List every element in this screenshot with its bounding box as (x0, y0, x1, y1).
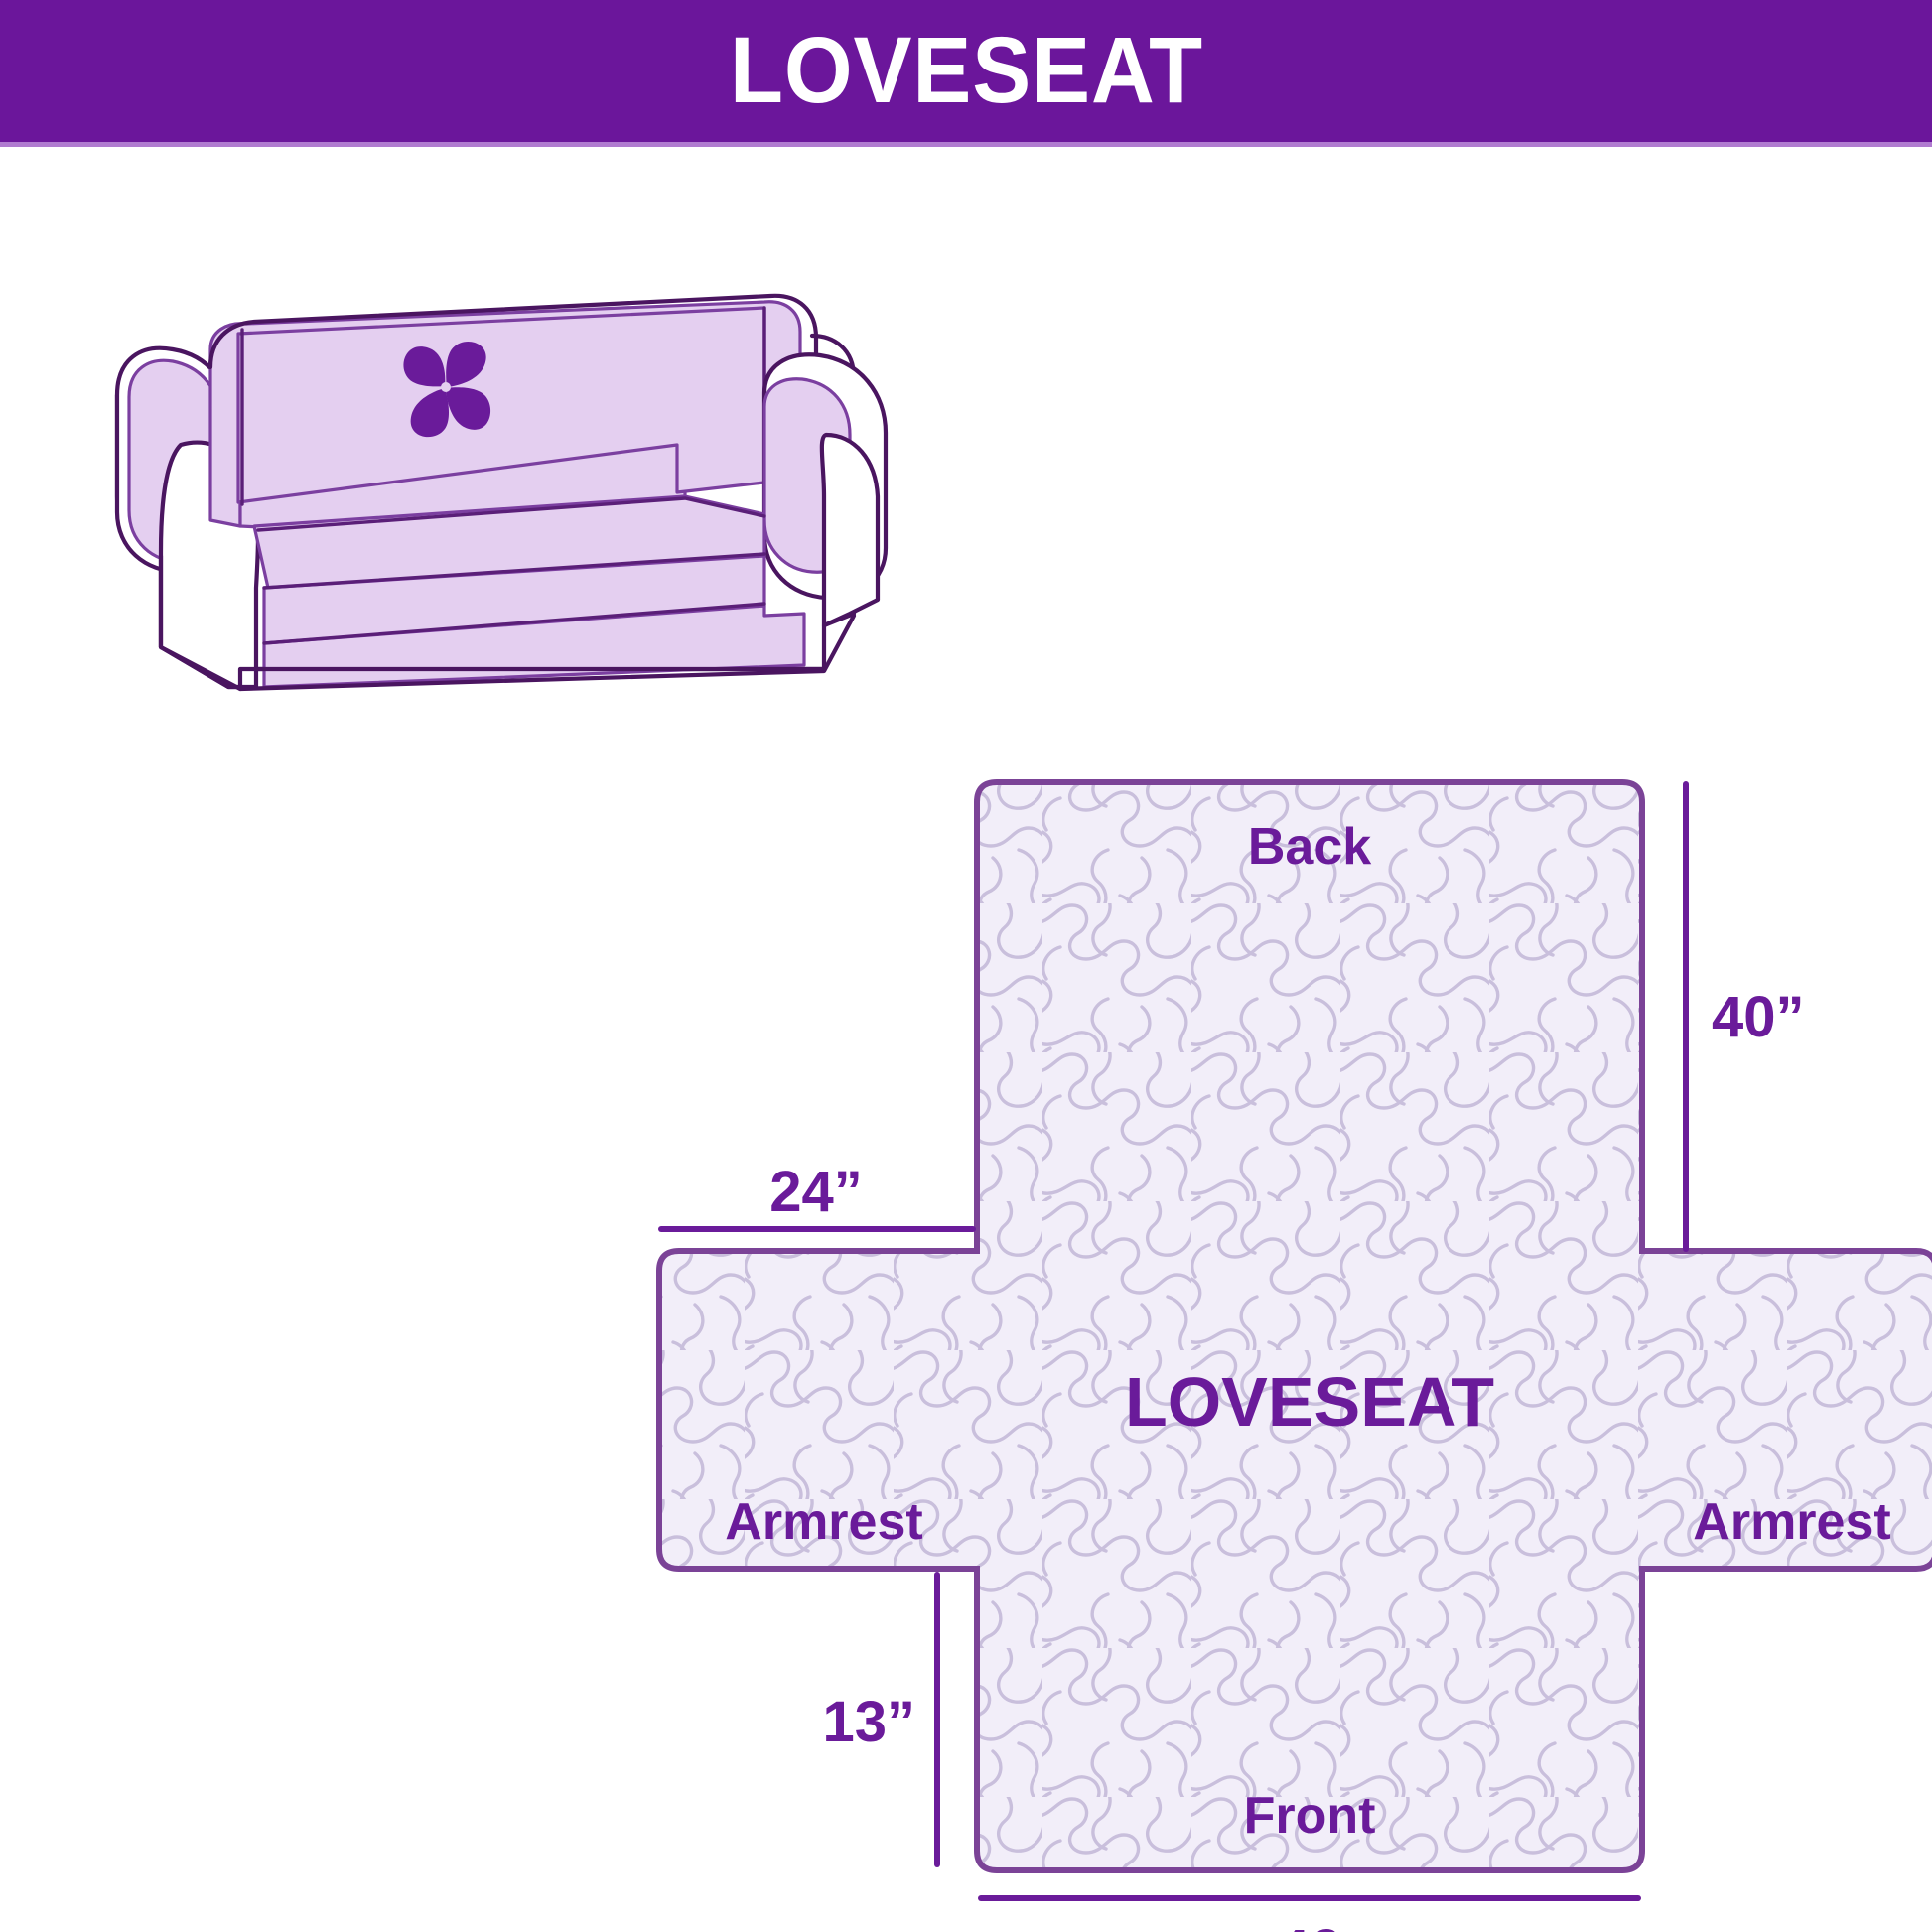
panel-label-armrest-left: Armrest (725, 1493, 922, 1551)
dimension-label-front-width: 46 (1278, 1918, 1342, 1932)
panel-label-back: Back (1248, 818, 1371, 876)
loveseat-cut-pattern-diagram: Back LOVESEAT Armrest Armrest Front 40” … (596, 755, 1932, 1932)
header-underline-divider (0, 142, 1932, 147)
quilt-stipple-pattern (596, 755, 1932, 1932)
loveseat-illustration: .ol { fill:none; stroke:#4A1560; stroke-… (69, 199, 923, 715)
header-banner: LOVESEAT (0, 0, 1932, 142)
panel-label-armrest-right: Armrest (1693, 1493, 1890, 1551)
dimension-label-back-height: 40” (1712, 985, 1805, 1049)
loveseat-size-guide-page: LOVESEAT .ol { fill:none; stroke:#4A1560… (0, 0, 1932, 1932)
page-title: LOVESEAT (729, 24, 1202, 118)
dimension-label-armrest-width: 24” (769, 1160, 863, 1224)
panel-label-front: Front (1244, 1787, 1376, 1845)
panel-label-center: LOVESEAT (1125, 1363, 1494, 1441)
dimension-label-front-height: 13” (822, 1690, 915, 1754)
